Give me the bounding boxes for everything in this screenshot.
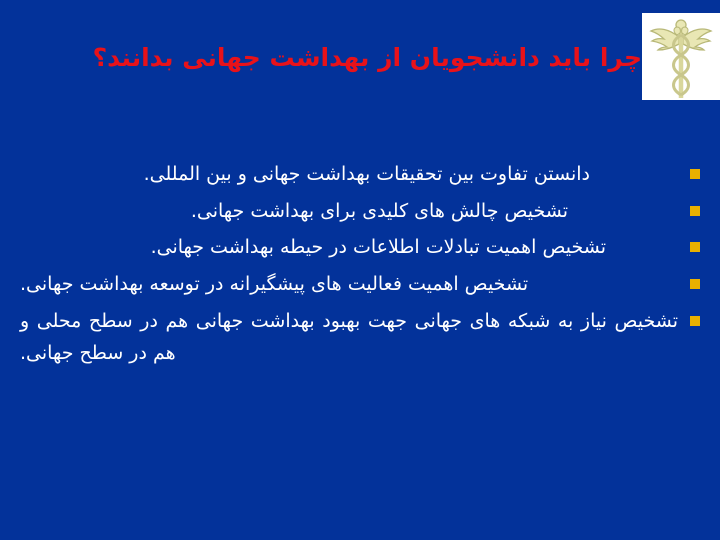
list-item: تشخیص اهمیت تبادلات اطلاعات در حیطه بهدا… — [20, 231, 708, 264]
logo-container — [642, 13, 720, 100]
slide-title: چرا باید دانشجویان از بهداشت جهانی بدانن… — [42, 44, 642, 73]
bullet-square-icon — [690, 279, 700, 289]
list-item: تشخیص اهمیت فعالیت های پیشگیرانه در توسع… — [20, 268, 708, 301]
bullet-square-icon — [690, 169, 700, 179]
list-item: تشخیص نیاز به شبکه های جهانی جهت بهبود ب… — [20, 305, 708, 370]
list-item-text: تشخیص اهمیت فعالیت های پیشگیرانه در توسع… — [20, 268, 678, 301]
presentation-slide: چرا باید دانشجویان از بهداشت جهانی بدانن… — [0, 0, 720, 540]
caduceus-icon — [647, 15, 715, 98]
bullet-list: دانستن تفاوت بین تحقیقات بهداشت جهانی و … — [20, 158, 708, 374]
bullet-square-icon — [690, 206, 700, 216]
list-item-text: تشخیص اهمیت تبادلات اطلاعات در حیطه بهدا… — [20, 231, 606, 264]
list-item-text: دانستن تفاوت بین تحقیقات بهداشت جهانی و … — [20, 158, 590, 191]
bullet-square-icon — [690, 316, 700, 326]
list-item: تشخیص چالش های کلیدی برای بهداشت جهانی. — [20, 195, 708, 228]
list-item-text: تشخیص چالش های کلیدی برای بهداشت جهانی. — [20, 195, 568, 228]
bullet-square-icon — [690, 242, 700, 252]
list-item-text: تشخیص نیاز به شبکه های جهانی جهت بهبود ب… — [20, 305, 678, 370]
list-item: دانستن تفاوت بین تحقیقات بهداشت جهانی و … — [20, 158, 708, 191]
